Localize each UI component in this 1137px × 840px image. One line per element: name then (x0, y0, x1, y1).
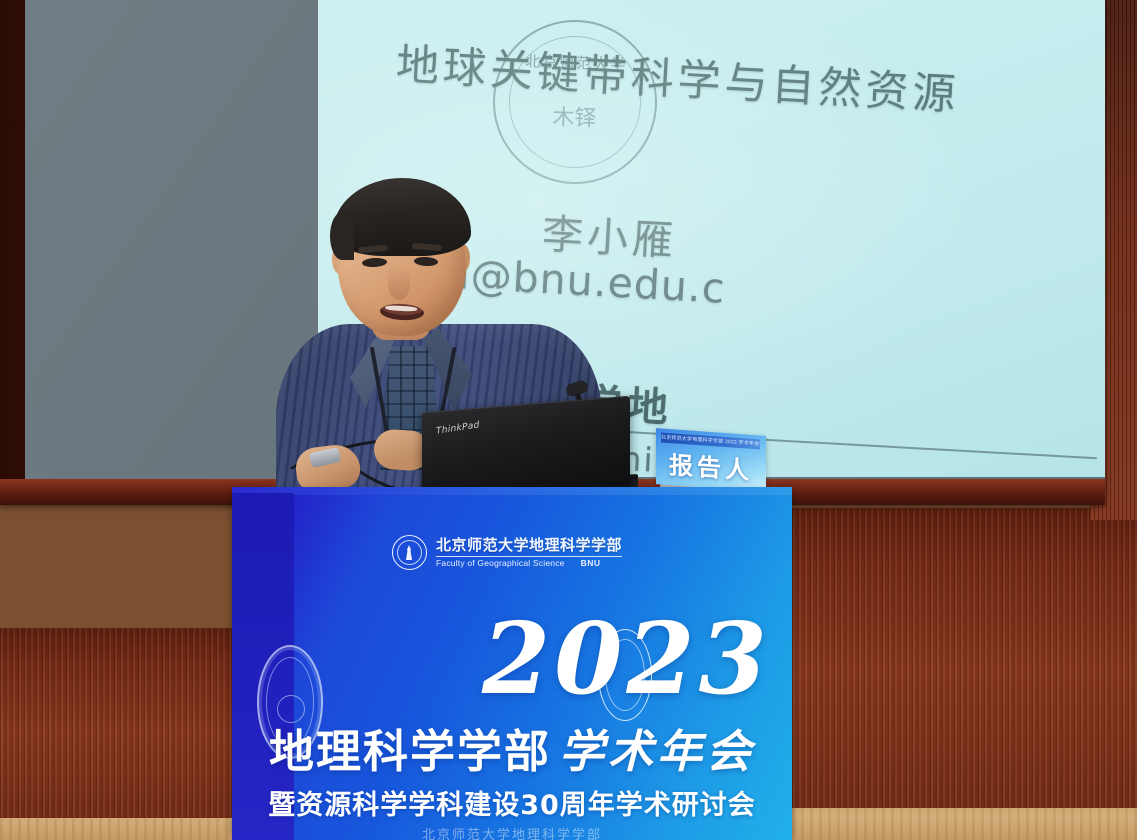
podium: 北京师范大学地理科学学部 Faculty of Geographical Sci… (232, 493, 792, 840)
podium-logo-en: Faculty of Geographical Science (436, 559, 565, 568)
podium-top-edge (232, 487, 792, 495)
banner-fine-print: 北京师范大学地理科学学部 (242, 824, 782, 840)
bnu-logo-icon (392, 535, 427, 570)
podium-logo-lockup: 北京师范大学地理科学学部 Faculty of Geographical Sci… (392, 535, 622, 570)
podium-logo-en-row: Faculty of Geographical Science BNU (436, 556, 622, 568)
presentation-photo-scene: 北京师范大学 木铎 地球关键带科学与自然资源 李小雁 (xyli@bnu.edu… (0, 0, 1137, 840)
wall-panel-left (0, 628, 252, 818)
podium-logo-text: 北京师范大学地理科学学部 Faculty of Geographical Sci… (436, 538, 622, 568)
thinkpad-logo: ThinkPad (436, 420, 480, 436)
banner-seal-icon (598, 629, 652, 721)
hair (333, 178, 471, 256)
banner-main-title: 地理科学学部学术年会 (242, 729, 782, 774)
slide-title: 地球关键带科学与自然资源 (395, 30, 962, 122)
nose (388, 268, 410, 300)
thinkpad-logo-text: ThinkPad (436, 420, 480, 436)
wall-panel-right (792, 508, 1137, 808)
namecard-title: 报告人 (656, 444, 766, 487)
podium-logo-abbr: BNU (581, 559, 601, 568)
banner-main-part1: 地理科学学部 (269, 725, 551, 778)
speaker-name-card: 北京师范大学地理科学学部 2023 学术年会暨资源科学学科建设30周年 报告人 (656, 428, 766, 492)
banner-subtitle: 暨资源科学学科建设30周年学术研讨会 (242, 783, 782, 822)
banner-main-part2: 学术年会 (559, 725, 755, 778)
banner-year-block: 2023 (482, 619, 752, 729)
podium-logo-cn: 北京师范大学地理科学学部 (436, 538, 622, 553)
